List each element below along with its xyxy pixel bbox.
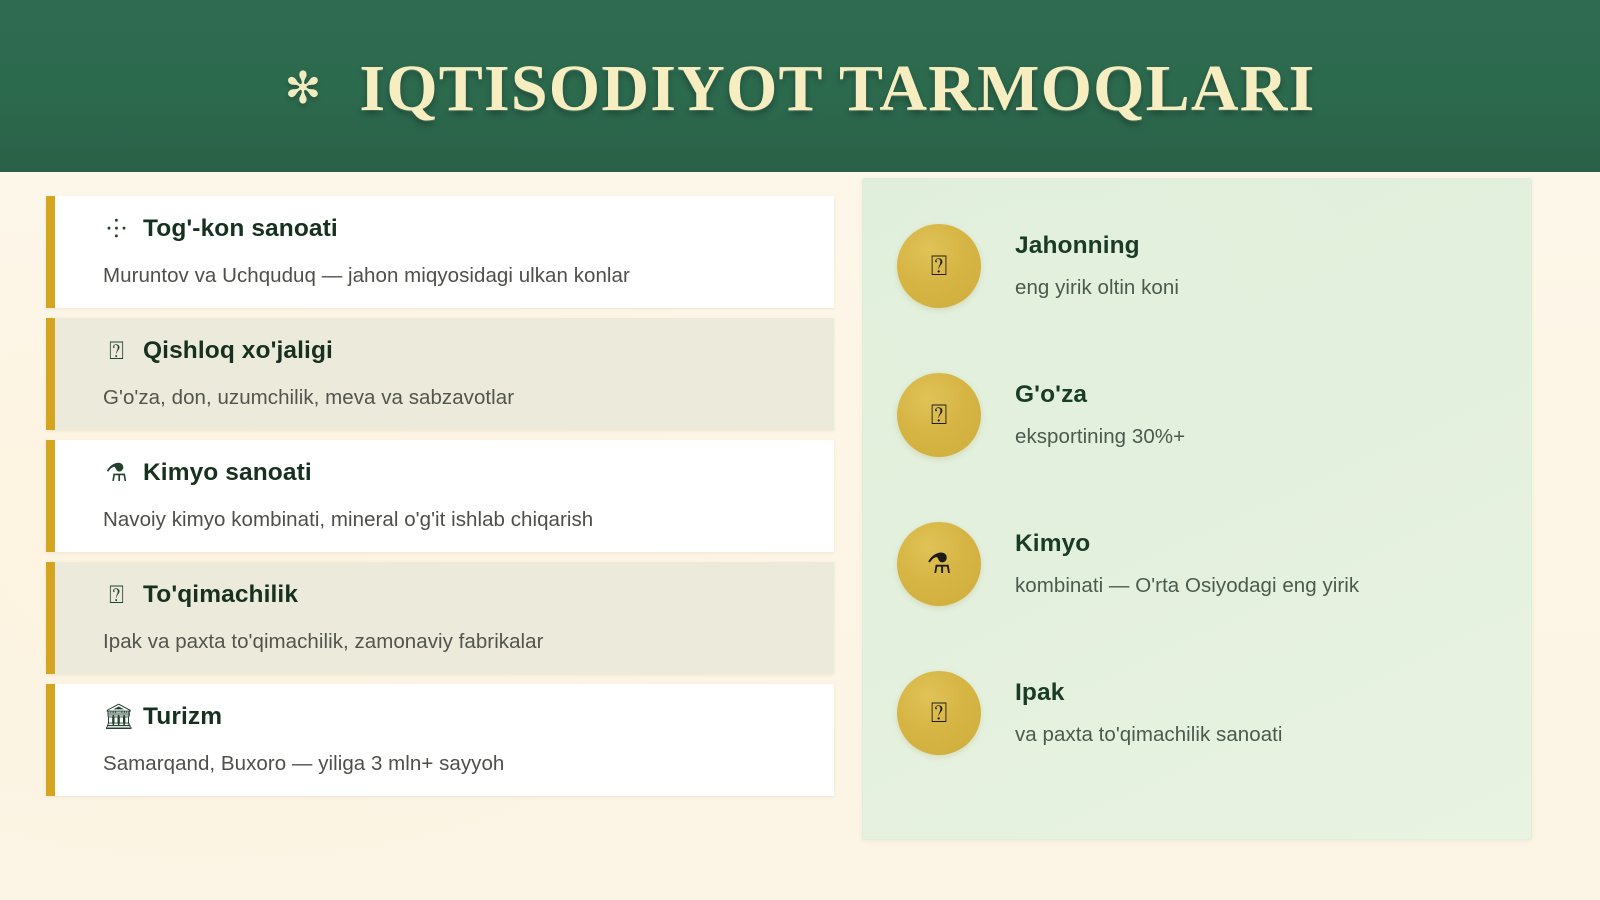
page-title: IQTISODIYOT TARMOQLARI (359, 56, 1315, 122)
card-description: Muruntov va Uchquduq — jahon miqyosidagi… (103, 264, 834, 288)
card-header: ⍰ Qishloq xo'jaligi (103, 336, 834, 366)
textile-icon: ⍰ (103, 583, 130, 608)
header-inner: ✻ IQTISODIYOT TARMOQLARI (285, 56, 1316, 122)
highlight-row-goza[interactable]: ⍰ G'o'za eksportining 30%+ (897, 356, 1501, 474)
highlight-badge: ⍰ (897, 373, 981, 457)
card-description: Ipak va paxta to'qimachilik, zamonaviy f… (103, 630, 834, 654)
card-title: To'qimachilik (143, 581, 298, 609)
highlight-text: Ipak va paxta to'qimachilik sanoati (1015, 679, 1283, 747)
highlight-row-ipak[interactable]: ⍰ Ipak va paxta to'qimachilik sanoati (897, 654, 1501, 772)
highlight-description: kombinati — O'rta Osiyodagi eng yirik (1015, 574, 1359, 598)
highlight-row-kimyo[interactable]: ⚗ Kimyo kombinati — O'rta Osiyodagi eng … (897, 505, 1501, 623)
page-header: ✻ IQTISODIYOT TARMOQLARI (0, 0, 1600, 172)
sector-card-toqimachilik[interactable]: ⍰ To'qimachilik Ipak va paxta to'qimachi… (46, 562, 834, 674)
card-title: Turizm (143, 703, 222, 731)
page-background: ✻ IQTISODIYOT TARMOQLARI ⸭ Tog'-kon sano… (0, 0, 1600, 900)
gold-medal-icon: ⍰ (931, 252, 948, 280)
card-title: Kimyo sanoati (143, 459, 312, 487)
sector-card-list: ⸭ Tog'-kon sanoati Muruntov va Uchquduq … (46, 196, 834, 806)
highlight-title: Kimyo (1015, 530, 1359, 558)
highlight-row-jahonning[interactable]: ⍰ Jahonning eng yirik oltin koni (897, 207, 1501, 325)
card-header: ⸭ Tog'-kon sanoati (103, 214, 834, 244)
sector-card-tog-kon-sanoati[interactable]: ⸭ Tog'-kon sanoati Muruntov va Uchquduq … (46, 196, 834, 308)
highlight-description: va paxta to'qimachilik sanoati (1015, 723, 1283, 747)
gear-icon: ✻ (285, 67, 322, 111)
highlight-title: Ipak (1015, 679, 1283, 707)
classical-building-icon: 🏛 (103, 705, 130, 730)
agriculture-icon: ⍰ (103, 339, 130, 364)
highlight-badge: ⍰ (897, 671, 981, 755)
card-title: Tog'-kon sanoati (143, 215, 338, 243)
highlight-title: Jahonning (1015, 232, 1179, 260)
pickaxe-icon: ⸭ (103, 217, 130, 242)
alembic-icon: ⚗ (926, 550, 951, 578)
highlight-badge: ⚗ (897, 522, 981, 606)
card-description: G'o'za, don, uzumchilik, meva va sabzavo… (103, 386, 834, 410)
highlight-text: G'o'za eksportining 30%+ (1015, 381, 1185, 449)
card-description: Samarqand, Buxoro — yiliga 3 mln+ sayyoh (103, 752, 834, 776)
silk-icon: ⍰ (931, 699, 948, 727)
card-header: 🏛 Turizm (103, 702, 834, 732)
card-title: Qishloq xo'jaligi (143, 337, 333, 365)
highlight-text: Kimyo kombinati — O'rta Osiyodagi eng yi… (1015, 530, 1359, 598)
main-content: ⸭ Tog'-kon sanoati Muruntov va Uchquduq … (0, 172, 1600, 900)
highlight-badge: ⍰ (897, 224, 981, 308)
factory-icon: ⚗ (103, 461, 130, 486)
highlight-text: Jahonning eng yirik oltin koni (1015, 232, 1179, 300)
cotton-icon: ⍰ (931, 401, 948, 429)
highlight-description: eng yirik oltin koni (1015, 276, 1179, 300)
highlights-panel: ⍰ Jahonning eng yirik oltin koni ⍰ G'o'z… (862, 178, 1532, 840)
card-description: Navoiy kimyo kombinati, mineral o'g'it i… (103, 508, 834, 532)
sector-card-qishloq-xojaligi[interactable]: ⍰ Qishloq xo'jaligi G'o'za, don, uzumchi… (46, 318, 834, 430)
card-header: ⚗ Kimyo sanoati (103, 458, 834, 488)
highlight-title: G'o'za (1015, 381, 1185, 409)
sector-card-kimyo-sanoati[interactable]: ⚗ Kimyo sanoati Navoiy kimyo kombinati, … (46, 440, 834, 552)
highlight-description: eksportining 30%+ (1015, 425, 1185, 449)
sector-card-turizm[interactable]: 🏛 Turizm Samarqand, Buxoro — yiliga 3 ml… (46, 684, 834, 796)
card-header: ⍰ To'qimachilik (103, 580, 834, 610)
